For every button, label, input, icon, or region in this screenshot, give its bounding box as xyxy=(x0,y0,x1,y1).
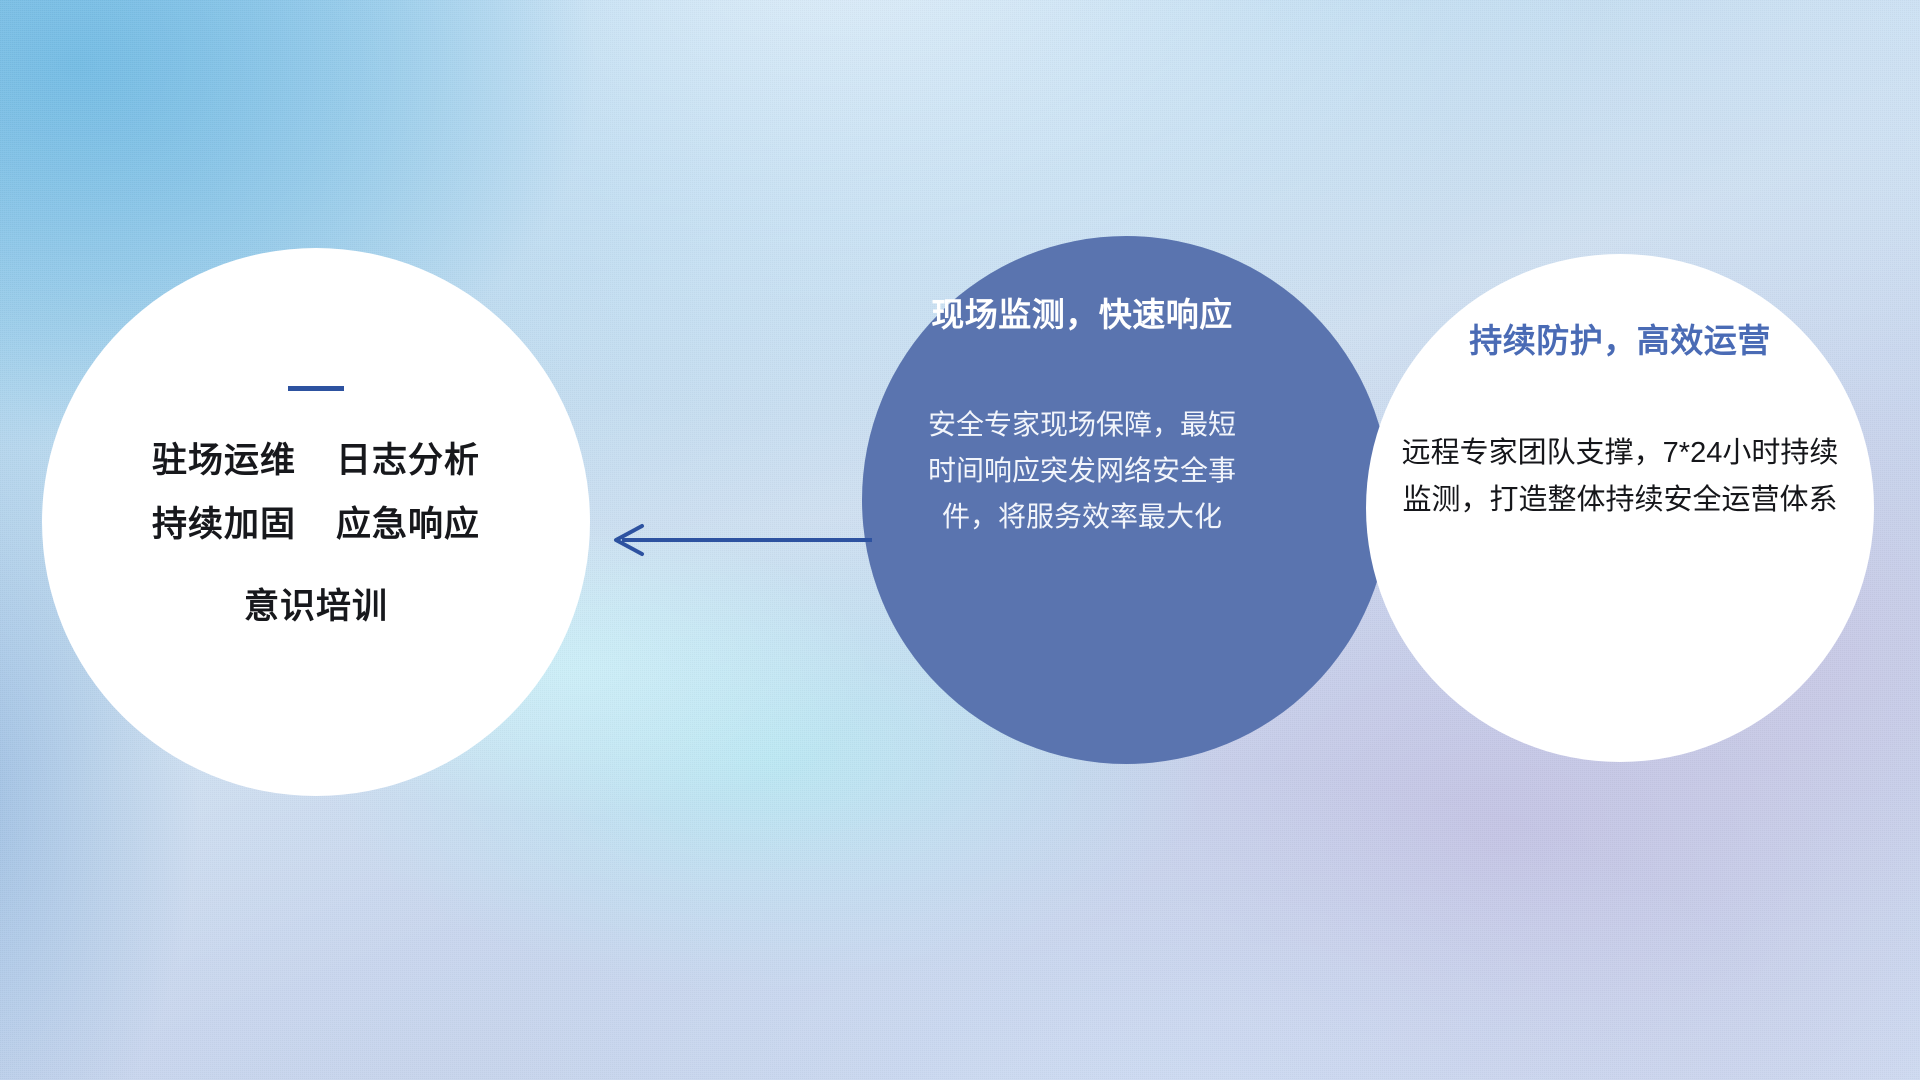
capability-tag: 驻场运维 xyxy=(152,439,296,483)
arrow-left-icon xyxy=(600,512,880,568)
capability-tag: 日志分析 xyxy=(336,439,480,483)
service-circle-onsite-title: 现场监测，快速响应 xyxy=(931,288,1233,336)
capability-tag-rows: 驻场运维 日志分析 持续加固 应急响应 意识培训 xyxy=(152,439,480,628)
service-circle-remote-content: 持续防护，高效运营 远程专家团队支撑，7*24小时持续监测，打造整体持续安全运营… xyxy=(1390,314,1850,524)
service-circle-remote-title: 持续防护，高效运营 xyxy=(1469,314,1771,362)
capability-tag: 意识培训 xyxy=(244,585,388,629)
capability-circle-left[interactable]: 驻场运维 日志分析 持续加固 应急响应 意识培训 xyxy=(42,248,590,796)
service-circle-onsite-content: 现场监测，快速响应 安全专家现场保障，最短时间响应突发网络安全事件，将服务效率最… xyxy=(912,288,1252,541)
capability-tag-row: 驻场运维 日志分析 xyxy=(152,439,480,483)
capability-tag-row: 意识培训 xyxy=(244,585,388,629)
flow-arrow-container xyxy=(600,512,880,568)
service-circle-onsite[interactable]: 现场监测，快速响应 安全专家现场保障，最短时间响应突发网络安全事件，将服务效率最… xyxy=(862,236,1390,764)
capability-tag: 持续加固 xyxy=(152,503,296,547)
service-circle-onsite-body: 安全专家现场保障，最短时间响应突发网络安全事件，将服务效率最大化 xyxy=(922,402,1242,541)
service-circle-remote-body: 远程专家团队支撑，7*24小时持续监测，打造整体持续安全运营体系 xyxy=(1400,430,1840,524)
service-circle-remote[interactable]: 持续防护，高效运营 远程专家团队支撑，7*24小时持续监测，打造整体持续安全运营… xyxy=(1366,254,1874,762)
capability-tag: 应急响应 xyxy=(336,503,480,547)
capability-circle-left-content: 驻场运维 日志分析 持续加固 应急响应 意识培训 xyxy=(42,386,590,628)
capability-tag-row: 持续加固 应急响应 xyxy=(152,503,480,547)
slide-canvas: 驻场运维 日志分析 持续加固 应急响应 意识培训 现场监测，快速响应 安全专家现… xyxy=(0,0,1920,1080)
divider-dash xyxy=(288,386,344,391)
